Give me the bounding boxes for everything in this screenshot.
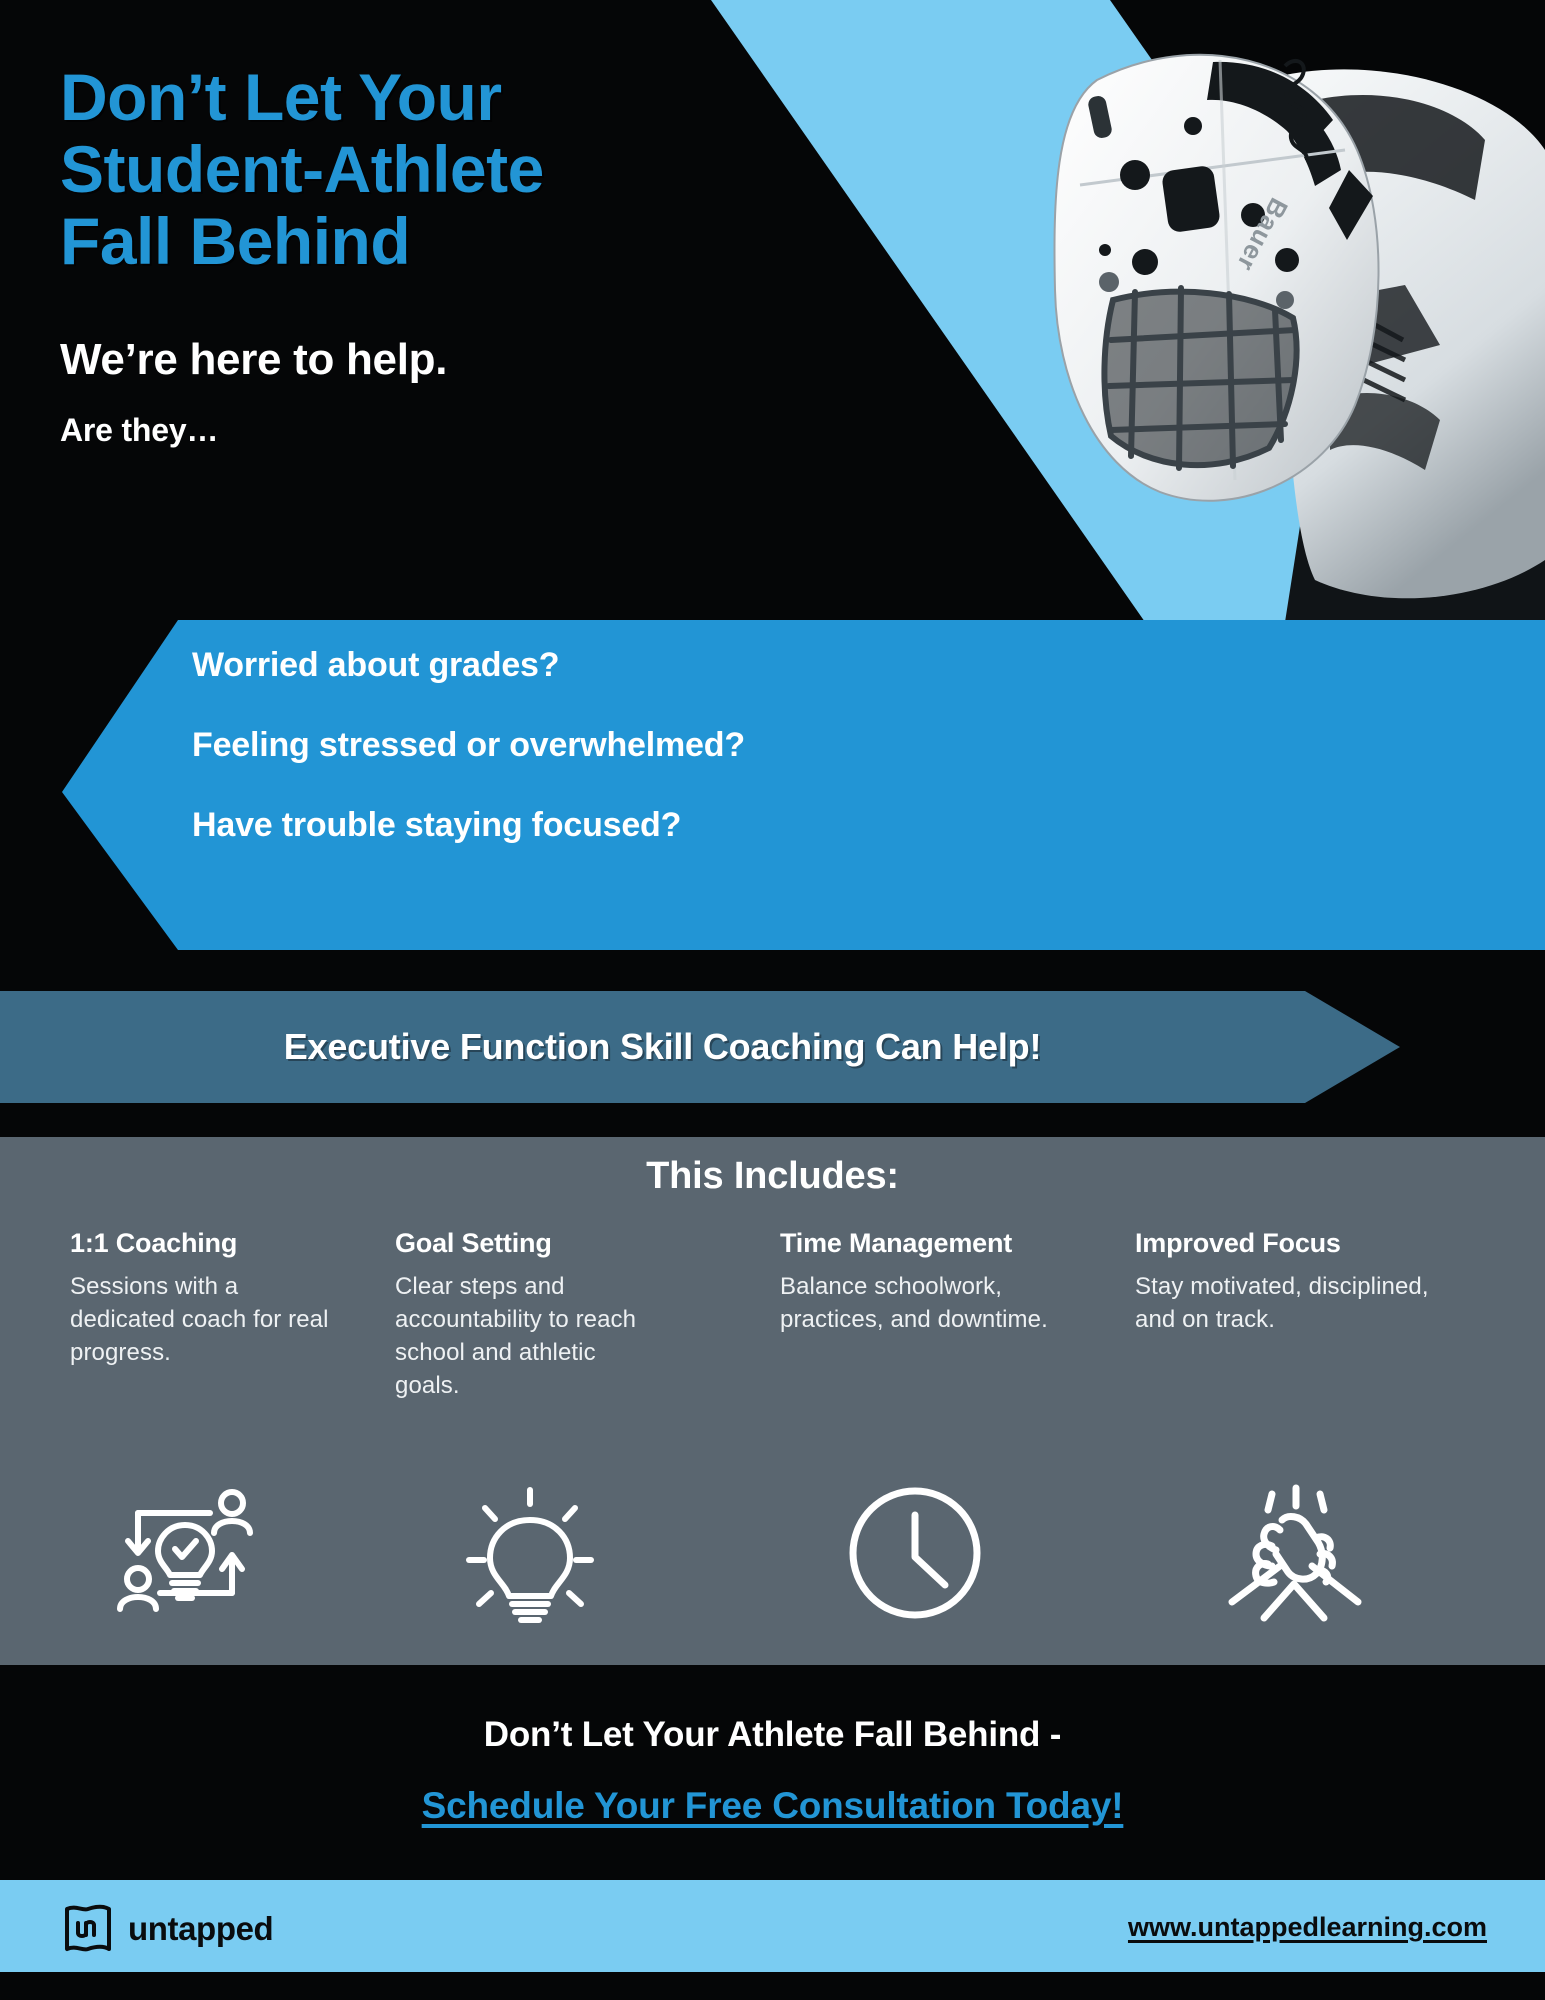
clasped-hands-icon [1205, 1470, 1385, 1635]
feature-title: 1:1 Coaching [70, 1228, 330, 1260]
question-item: Worried about grades? [192, 648, 1342, 682]
flyer-poster: Bauer Don’t Let Your Student-Athlete Fal… [0, 0, 1545, 2000]
feature-column-improved-focus: Improved Focus Stay motivated, disciplin… [1135, 1228, 1465, 1336]
question-item: Have trouble staying focused? [192, 808, 1342, 842]
feature-body: Balance schoolwork, practices, and downt… [780, 1270, 1090, 1336]
feature-body: Sessions with a dedicated coach for real… [70, 1270, 330, 1369]
brand-name: untapped [128, 1910, 273, 1948]
feature-body: Stay motivated, disciplined, and on trac… [1135, 1270, 1465, 1336]
feature-column-goal-setting: Goal Setting Clear steps and accountabil… [395, 1228, 655, 1402]
feature-title: Goal Setting [395, 1228, 655, 1260]
feature-column-time-management: Time Management Balance schoolwork, prac… [780, 1228, 1090, 1336]
feature-title: Time Management [780, 1228, 1090, 1260]
question-item: Feeling stressed or overwhelmed? [192, 728, 1342, 762]
coaching-banner-text: Executive Function Skill Coaching Can He… [0, 991, 1305, 1103]
feature-icons-row [0, 1470, 1545, 1635]
hero-title: Don’t Let Your Student-Athlete Fall Behi… [60, 62, 544, 278]
footer-website-link[interactable]: www.untappedlearning.com [1128, 1912, 1487, 1943]
coaching-banner: Executive Function Skill Coaching Can He… [0, 991, 1400, 1103]
cta-link[interactable]: Schedule Your Free Consultation Today! [0, 1785, 1545, 1827]
features-heading: This Includes: [0, 1155, 1545, 1198]
brand-logo: untapped [62, 1903, 273, 1955]
hockey-goalie-mask-photo: Bauer [985, 0, 1545, 622]
bottom-black-strip [0, 1972, 1545, 2000]
feature-body: Clear steps and accountability to reach … [395, 1270, 655, 1402]
clock-icon [825, 1470, 1005, 1635]
feature-column-coaching: 1:1 Coaching Sessions with a dedicated c… [70, 1228, 330, 1369]
cta-section [0, 1665, 1545, 1875]
hero-section: Bauer Don’t Let Your Student-Athlete Fal… [0, 0, 1545, 622]
questions-list: Worried about grades? Feeling stressed o… [192, 648, 1342, 842]
feature-title: Improved Focus [1135, 1228, 1465, 1260]
lightbulb-icon [440, 1470, 620, 1635]
hero-prompt: Are they… [60, 412, 218, 449]
untapped-book-mark-icon [62, 1903, 114, 1955]
hero-subtitle: We’re here to help. [60, 335, 447, 385]
cta-headline: Don’t Let Your Athlete Fall Behind - [0, 1715, 1545, 1755]
coaching-exchange-icon [95, 1470, 275, 1635]
